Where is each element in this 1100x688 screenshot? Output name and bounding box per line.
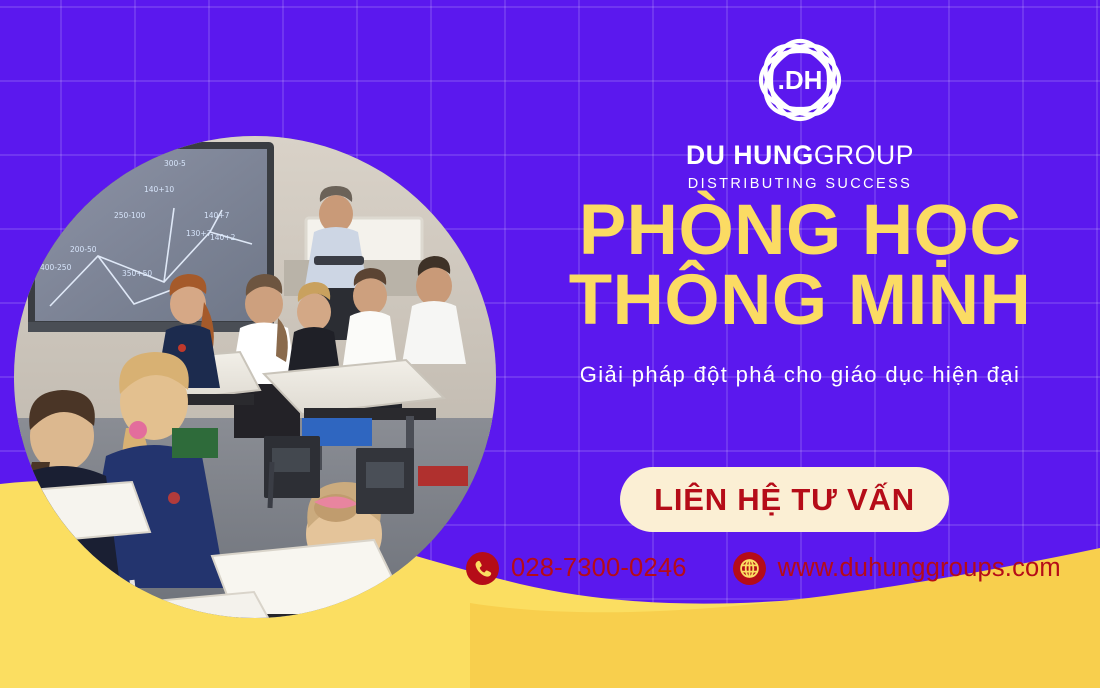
photo-illustration: 300-5 140+10 250-100 200-50 400-250 140+…	[14, 136, 496, 618]
brand-name: DU HUNGGROUP	[686, 140, 914, 171]
website-url: www.duhunggroups.com	[778, 554, 1061, 583]
svg-text:300-5: 300-5	[164, 159, 186, 168]
phone-contact[interactable]: 028-7300-0246	[466, 552, 687, 585]
headline-line-1: PHÒNG HỌC	[500, 196, 1100, 266]
svg-text:140+10: 140+10	[144, 185, 174, 194]
globe-icon	[733, 552, 766, 585]
subtitle: Giải pháp đột phá cho giáo dục hiện đại	[500, 362, 1100, 388]
svg-text:200-50: 200-50	[70, 245, 97, 254]
headline-line-2: THÔNG MINH	[500, 266, 1100, 336]
svg-text:140+2: 140+2	[210, 233, 236, 242]
svg-text:350+50: 350+50	[122, 269, 152, 278]
smart-classroom-photo: 300-5 140+10 250-100 200-50 400-250 140+…	[14, 136, 496, 618]
contact-info: 028-7300-0246 www.duhunggroups.com	[466, 552, 1061, 585]
promo-banner: 300-5 140+10 250-100 200-50 400-250 140+…	[0, 0, 1100, 688]
atom-orbit-logo-icon: .DH	[746, 26, 854, 134]
website-contact[interactable]: www.duhunggroups.com	[733, 552, 1061, 585]
phone-number: 028-7300-0246	[511, 554, 687, 583]
brand-name-light: GROUP	[814, 140, 914, 170]
svg-text:250-100: 250-100	[114, 211, 146, 220]
phone-icon	[466, 552, 499, 585]
svg-text:130+7: 130+7	[186, 229, 212, 238]
contact-cta-button[interactable]: LIÊN HỆ TƯ VẤN	[620, 467, 949, 532]
brand-logo: .DH DU HUNGGROUP DISTRIBUTING SUCCESS	[645, 26, 955, 192]
page-title: PHÒNG HỌC THÔNG MINH	[500, 196, 1100, 337]
svg-text:140+7: 140+7	[204, 211, 230, 220]
brand-tagline: DISTRIBUTING SUCCESS	[688, 176, 912, 192]
svg-text:400-250: 400-250	[40, 263, 72, 272]
brand-name-bold: DU HUNG	[686, 140, 814, 170]
logo-monogram: .DH	[778, 65, 823, 95]
